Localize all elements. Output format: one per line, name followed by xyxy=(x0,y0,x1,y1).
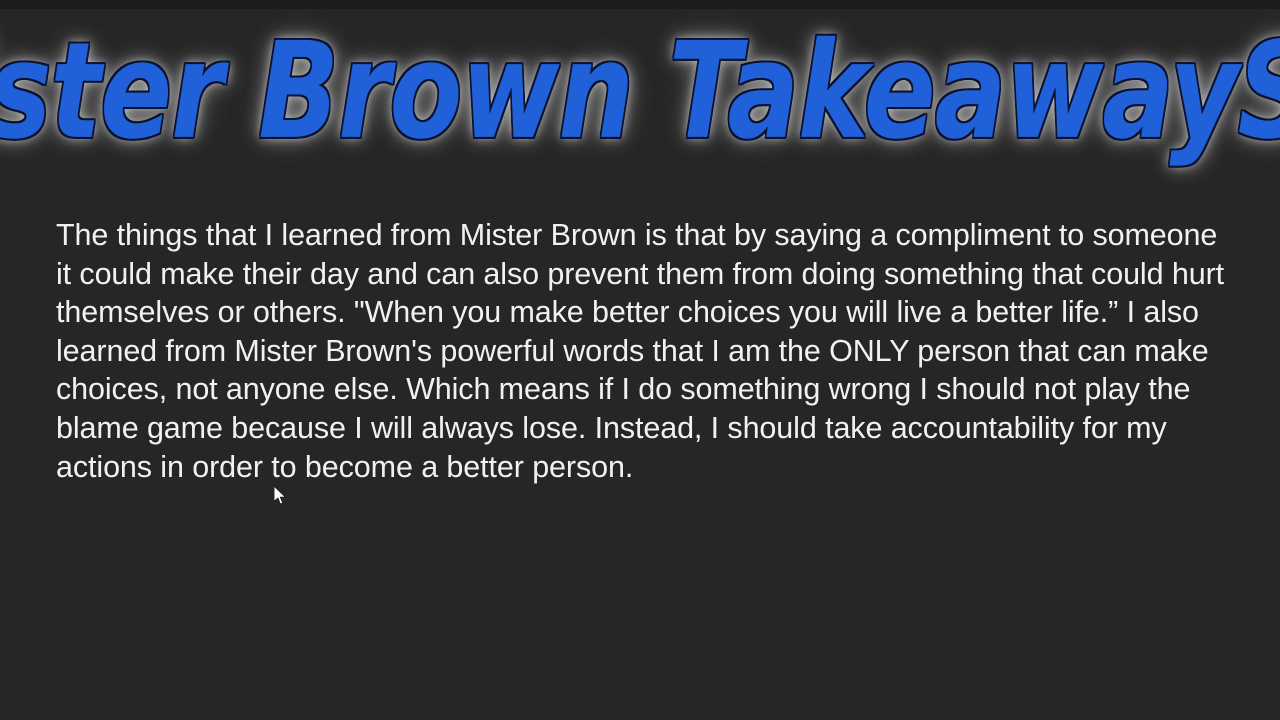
top-letterbox-band xyxy=(0,0,1280,9)
mouse-cursor xyxy=(274,486,288,506)
slide-title: Mister Brown TakeawayS... xyxy=(0,22,1280,162)
slide-title-container: Mister Brown TakeawayS... xyxy=(0,12,1280,172)
slide-body-paragraph: The things that I learned from Mister Br… xyxy=(56,216,1236,486)
presentation-slide: Mister Brown TakeawayS... The things tha… xyxy=(0,0,1280,720)
arrow-pointer-cursor-icon xyxy=(274,486,288,506)
